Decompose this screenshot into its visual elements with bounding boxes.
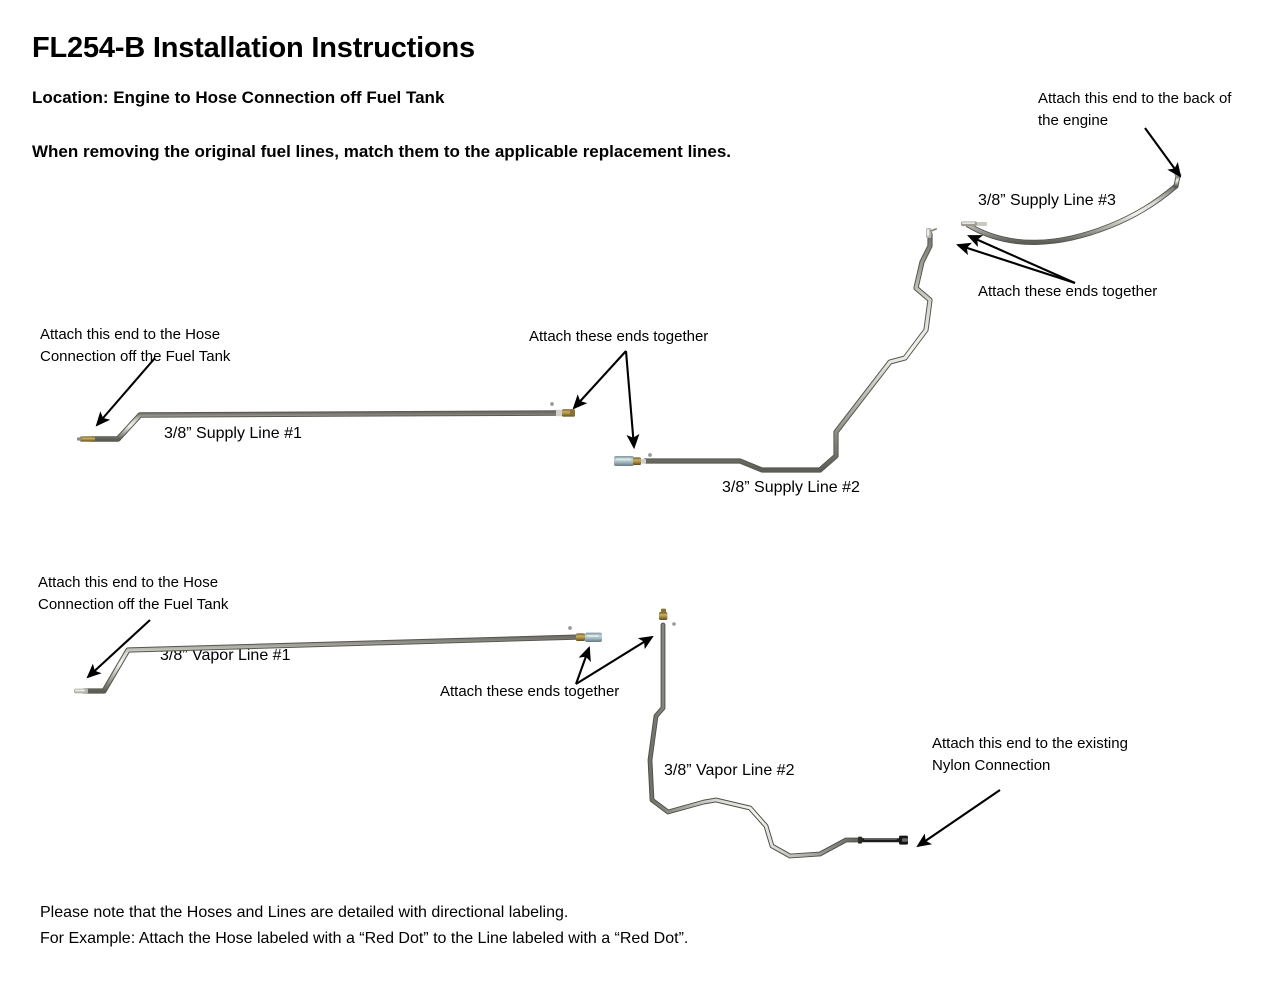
supply-line-1-drawing: [77, 402, 575, 442]
callout-hose-connection-supply: Attach this end to the Hose Connection o…: [40, 324, 230, 368]
page-title: FL254-B Installation Instructions: [32, 32, 475, 65]
arrow-hose-connection-vapor: [88, 620, 150, 677]
supply-line-1-left-fitting: [77, 436, 95, 441]
supply-line-2-top-fitting: [926, 228, 936, 238]
supply-line-2-left-fitting: [614, 453, 652, 466]
vapor-line-1-left-fitting: [74, 689, 88, 694]
callout-attach-ends-supply-right: Attach these ends together: [978, 281, 1157, 303]
vapor-line-1-right-fitting: [568, 626, 602, 642]
arrow-engine-back: [1145, 128, 1180, 176]
arrow-attach-vapor1-right-end: [576, 648, 589, 684]
callout-attach-ends-supply-mid: Attach these ends together: [529, 326, 708, 348]
footer-note: Please note that the Hoses and Lines are…: [40, 900, 688, 952]
supply-line-3-left-fitting: [961, 222, 987, 227]
arrow-attach-supply3-end: [969, 236, 1075, 283]
label-supply-line-2: 3/8” Supply Line #2: [722, 479, 860, 497]
vapor-line-2-drawing: [650, 609, 908, 856]
label-vapor-line-1: 3/8” Vapor Line #1: [160, 647, 290, 665]
instruction-sheet-page: FL254-B Installation Instructions Locati…: [0, 0, 1280, 989]
callout-hose-connection-vapor: Attach this end to the Hose Connection o…: [38, 572, 228, 616]
vapor-line-2-nylon-connector: [858, 836, 908, 845]
callout-attach-ends-vapor: Attach these ends together: [440, 681, 619, 703]
matching-instruction: When removing the original fuel lines, m…: [32, 142, 731, 162]
callout-nylon-connection: Attach this end to the existing Nylon Co…: [932, 733, 1128, 777]
label-supply-line-3: 3/8” Supply Line #3: [978, 192, 1116, 210]
arrow-attach-supply2-left-end: [626, 351, 634, 447]
label-vapor-line-2: 3/8” Vapor Line #2: [664, 762, 794, 780]
arrow-hose-connection-supply: [97, 358, 155, 425]
supply-line-2-drawing: [614, 228, 936, 470]
location-subtitle: Location: Engine to Hose Connection off …: [32, 88, 444, 108]
supply-line-1-right-fitting: [550, 402, 575, 417]
arrow-attach-supply2-top-end: [958, 245, 1075, 283]
arrow-nylon-connection: [918, 790, 1000, 846]
label-supply-line-1: 3/8” Supply Line #1: [164, 425, 302, 443]
arrow-attach-vapor2-top-end: [576, 637, 652, 684]
arrow-attach-supply1-right-end: [574, 351, 626, 408]
callout-engine-back: Attach this end to the back of the engin…: [1038, 88, 1231, 132]
vapor-line-2-top-fitting: [659, 609, 676, 626]
